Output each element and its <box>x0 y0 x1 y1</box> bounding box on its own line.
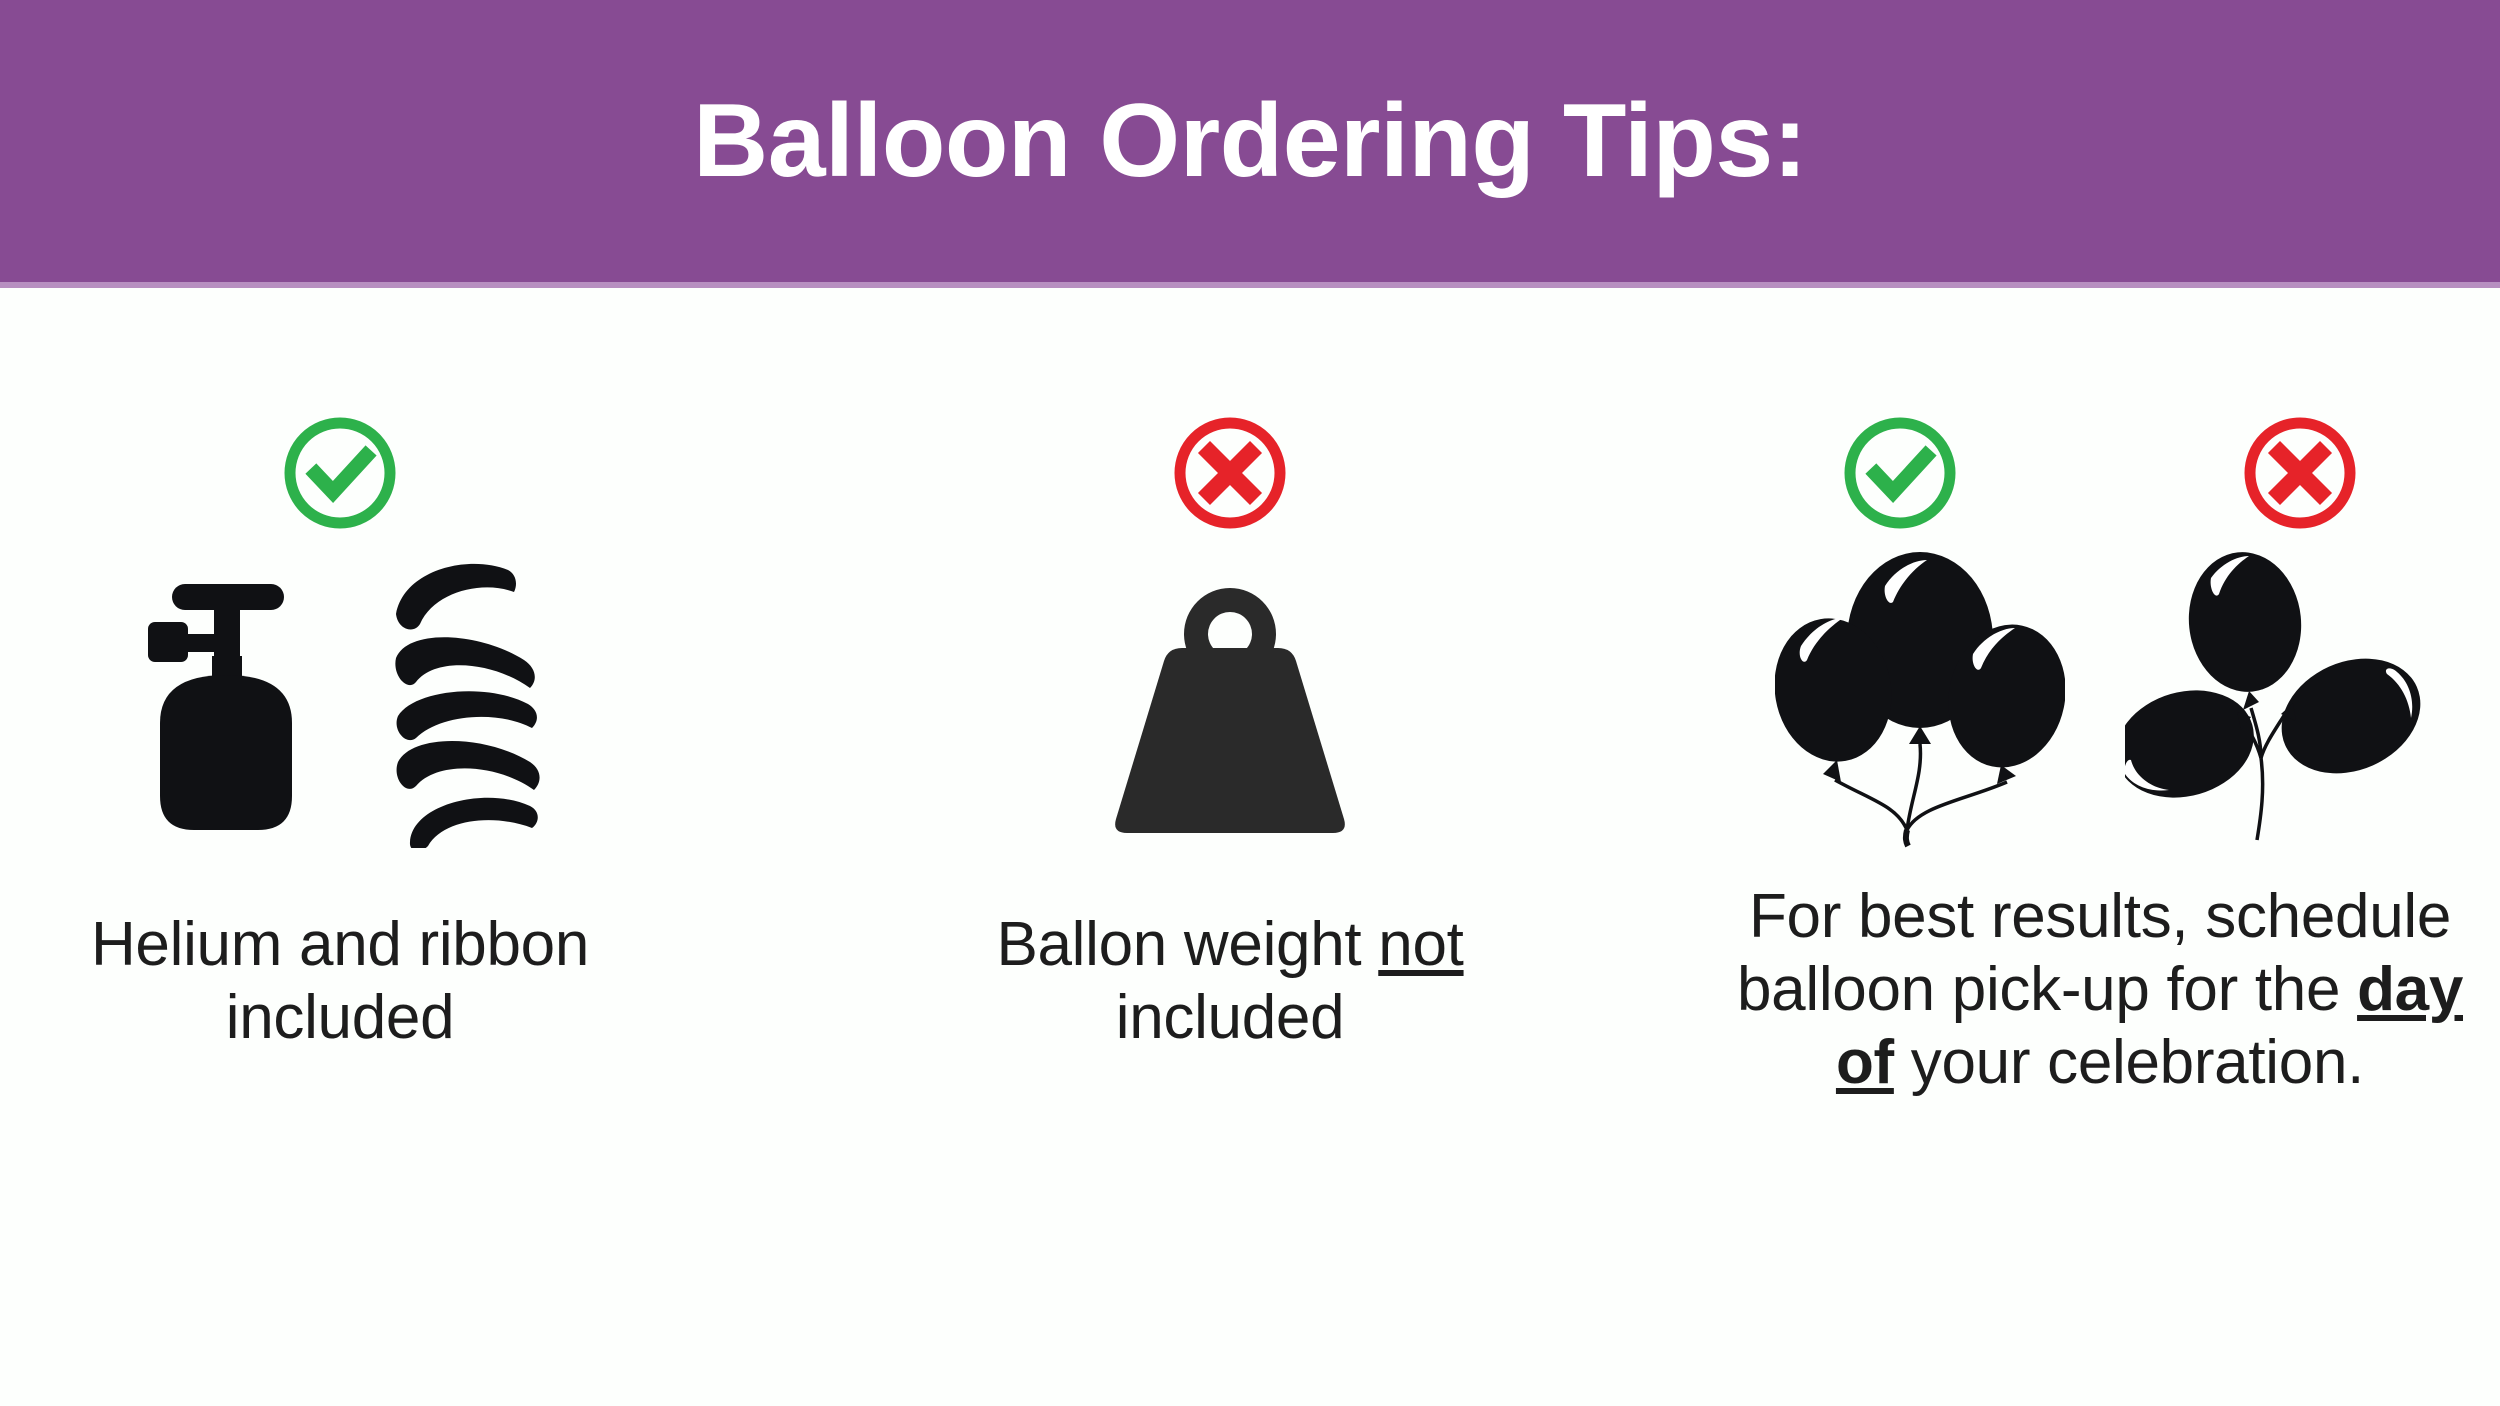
tip1-caption-text: Helium and ribbon included <box>91 910 589 1052</box>
tip1-illustration-row <box>120 568 560 848</box>
tip3-caption-before: For best results, schedule balloon pick-… <box>1737 882 2451 1024</box>
green-check-circle-icon <box>280 413 400 533</box>
tip-card-pickup-timing: For best results, schedule balloon pick-… <box>1700 288 2500 1099</box>
header-banner: Balloon Ordering Tips: <box>0 0 2500 282</box>
deflated-balloon-bunch-icon <box>2125 548 2425 848</box>
red-cross-circle-icon <box>1170 413 1290 533</box>
tips-row: Helium and ribbon included Ballon weight… <box>0 288 2500 1406</box>
tip2-caption: Ballon weight not included <box>910 908 1550 1054</box>
tip3-caption-after: your celebration. <box>1894 1028 2364 1097</box>
red-cross-circle-icon <box>2240 413 2360 533</box>
tip2-caption-after: included <box>1116 983 1345 1052</box>
inflated-balloon-bunch-icon <box>1775 548 2065 848</box>
curly-ribbon-icon <box>390 558 560 848</box>
balloon-weight-icon <box>1090 578 1370 848</box>
tip3-illustration-row <box>1775 568 2425 848</box>
green-check-circle-icon <box>1840 413 1960 533</box>
tip2-badge-row <box>1170 398 1290 548</box>
page-title: Balloon Ordering Tips: <box>693 89 1807 193</box>
tip2-illustration-row <box>1090 568 1370 848</box>
tip3-caption: For best results, schedule balloon pick-… <box>1700 880 2500 1099</box>
tip3-badge-row <box>1840 398 2360 548</box>
tip-card-helium-ribbon: Helium and ribbon included <box>0 288 680 1054</box>
tip1-badge-row <box>280 398 400 548</box>
tip2-caption-emphasis: not <box>1378 910 1463 979</box>
tip2-caption-before: Ballon weight <box>996 910 1378 979</box>
helium-tank-icon <box>120 578 330 848</box>
tip-card-balloon-weight: Ballon weight not included <box>890 288 1570 1054</box>
tip1-caption: Helium and ribbon included <box>20 908 660 1054</box>
